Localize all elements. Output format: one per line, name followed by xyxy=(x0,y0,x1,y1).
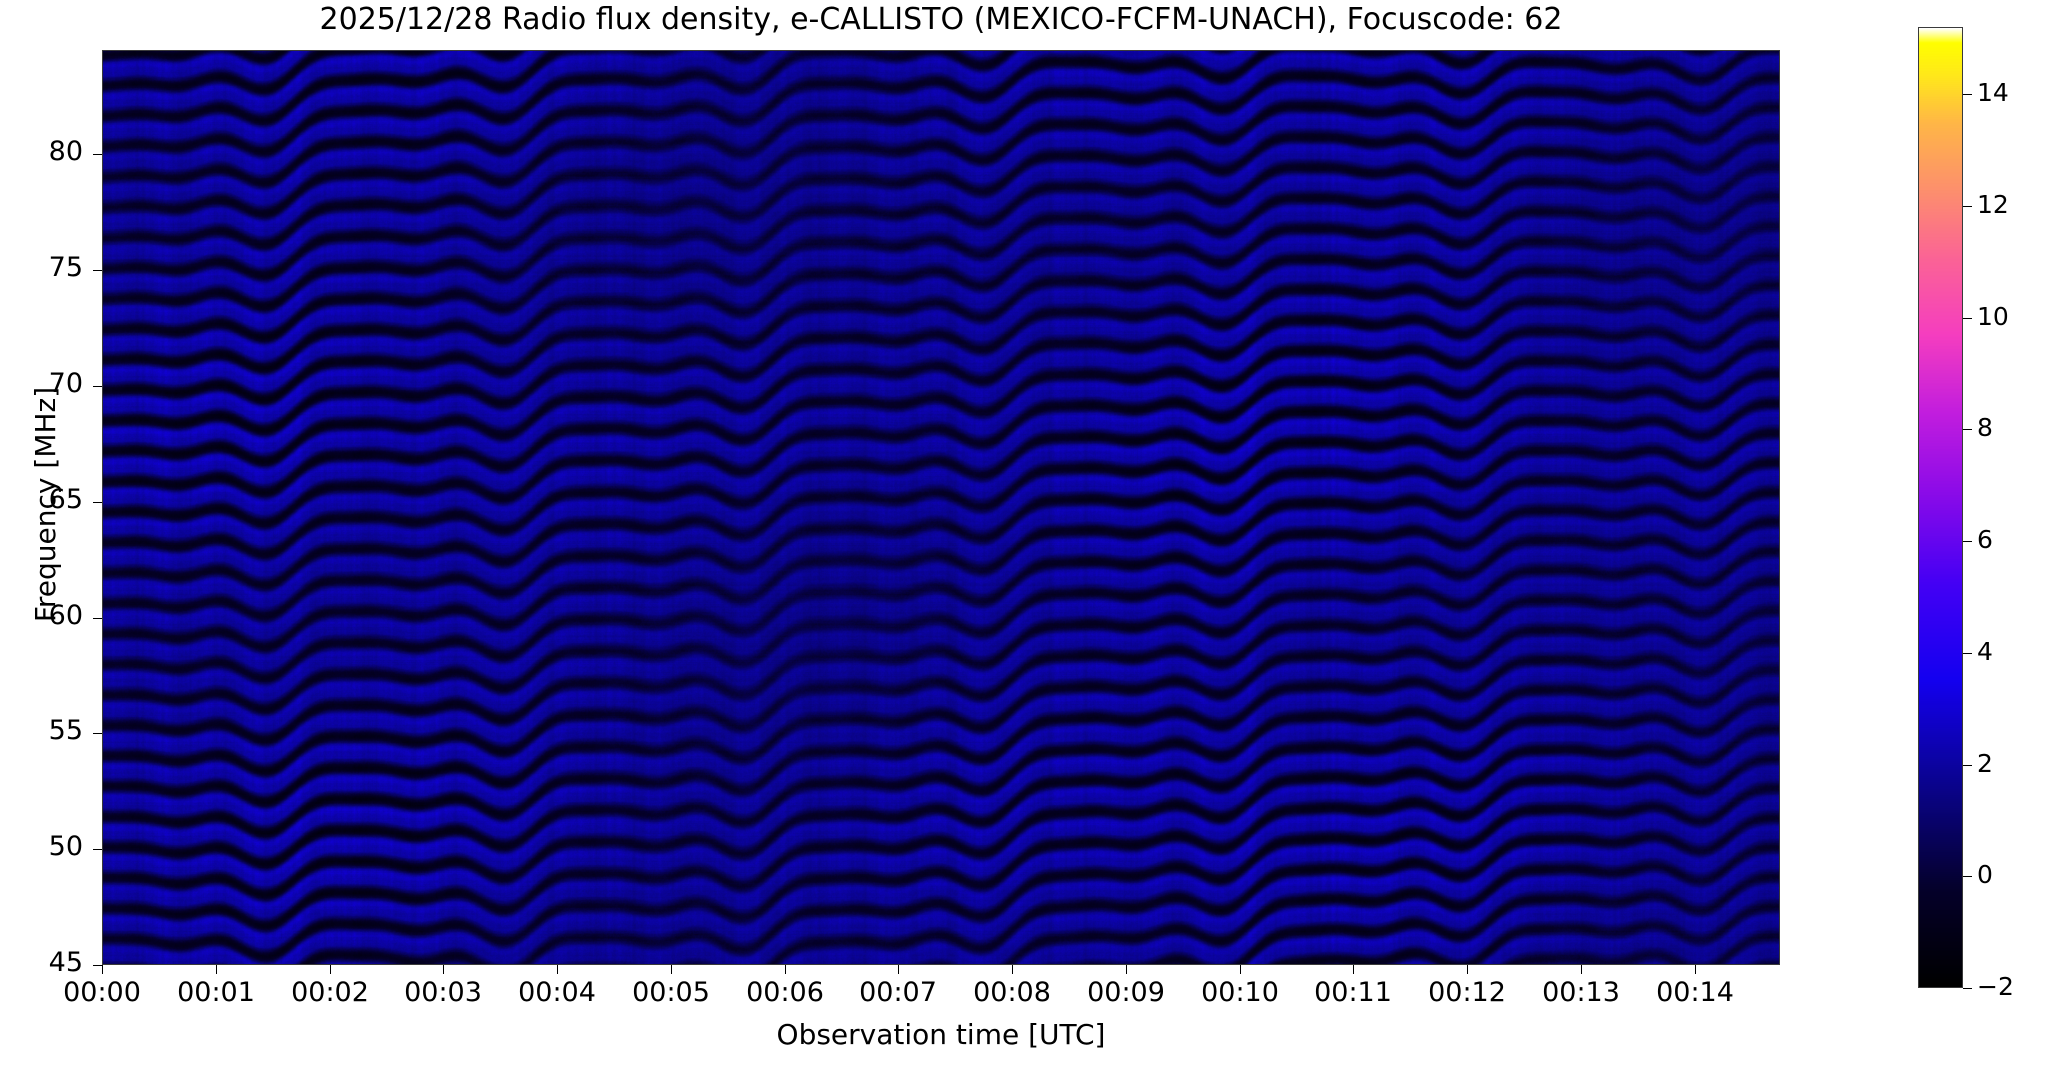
colorbar-tick-label: 6 xyxy=(1977,525,1993,554)
colorbar-tick-label: 12 xyxy=(1977,190,2009,219)
x-tick-mark xyxy=(330,965,331,974)
x-tick-mark xyxy=(1240,965,1241,974)
colorbar-tick-mark xyxy=(1963,541,1972,542)
colorbar-tick-mark xyxy=(1963,653,1972,654)
y-tick-mark xyxy=(93,849,102,850)
x-tick-mark xyxy=(557,965,558,974)
x-axis-label: Observation time [UTC] xyxy=(102,1018,1780,1051)
x-tick-mark xyxy=(671,965,672,974)
x-tick-mark xyxy=(1581,965,1582,974)
chart-title: 2025/12/28 Radio flux density, e-CALLIST… xyxy=(102,2,1780,38)
y-tick-mark xyxy=(93,154,102,155)
figure-canvas: 2025/12/28 Radio flux density, e-CALLIST… xyxy=(0,0,2047,1067)
colorbar-tick-label: 4 xyxy=(1977,637,1993,666)
x-tick-label: 00:14 xyxy=(1635,977,1755,1008)
y-tick-mark xyxy=(93,618,102,619)
colorbar-tick-mark xyxy=(1963,765,1972,766)
spectrogram-image xyxy=(103,51,1779,964)
x-tick-mark xyxy=(1353,965,1354,974)
colorbar-tick-mark xyxy=(1963,318,1972,319)
x-tick-mark xyxy=(1126,965,1127,974)
x-tick-label: 00:11 xyxy=(1293,977,1413,1008)
colorbar-tick-mark xyxy=(1963,94,1972,95)
x-tick-mark xyxy=(443,965,444,974)
x-tick-mark xyxy=(102,965,103,974)
colorbar-gradient xyxy=(1919,28,1962,987)
spectrogram-panel xyxy=(102,50,1780,965)
x-tick-label: 00:04 xyxy=(497,977,617,1008)
x-tick-mark xyxy=(1012,965,1013,974)
x-tick-label: 00:12 xyxy=(1407,977,1527,1008)
x-tick-label: 00:02 xyxy=(270,977,390,1008)
x-tick-label: 00:09 xyxy=(1066,977,1186,1008)
y-tick-mark xyxy=(93,733,102,734)
x-tick-label: 00:07 xyxy=(838,977,958,1008)
colorbar-tick-mark xyxy=(1963,876,1972,877)
colorbar-tick-label: 14 xyxy=(1977,78,2009,107)
x-tick-label: 00:10 xyxy=(1180,977,1300,1008)
x-tick-label: 00:06 xyxy=(725,977,845,1008)
x-tick-label: 00:08 xyxy=(952,977,1072,1008)
y-axis-label: Frequency [MHz] xyxy=(29,47,62,962)
colorbar-tick-label: 2 xyxy=(1977,749,1993,778)
colorbar-tick-label: 0 xyxy=(1977,860,1993,889)
colorbar-tick-mark xyxy=(1963,429,1972,430)
x-tick-mark xyxy=(1467,965,1468,974)
colorbar-tick-mark xyxy=(1963,988,1972,989)
x-tick-mark xyxy=(785,965,786,974)
colorbar xyxy=(1918,27,1963,988)
colorbar-tick-label: 10 xyxy=(1977,302,2009,331)
y-tick-mark xyxy=(93,965,102,966)
x-tick-label: 00:13 xyxy=(1521,977,1641,1008)
x-tick-mark xyxy=(898,965,899,974)
y-tick-mark xyxy=(93,386,102,387)
x-tick-label: 00:03 xyxy=(383,977,503,1008)
x-tick-label: 00:01 xyxy=(156,977,276,1008)
y-tick-mark xyxy=(93,502,102,503)
x-tick-label: 00:00 xyxy=(42,977,162,1008)
colorbar-tick-label: 8 xyxy=(1977,413,1993,442)
x-tick-label: 00:05 xyxy=(611,977,731,1008)
colorbar-tick-label: −2 xyxy=(1977,972,2014,1001)
colorbar-tick-mark xyxy=(1963,206,1972,207)
x-tick-mark xyxy=(216,965,217,974)
y-tick-mark xyxy=(93,270,102,271)
x-tick-mark xyxy=(1695,965,1696,974)
